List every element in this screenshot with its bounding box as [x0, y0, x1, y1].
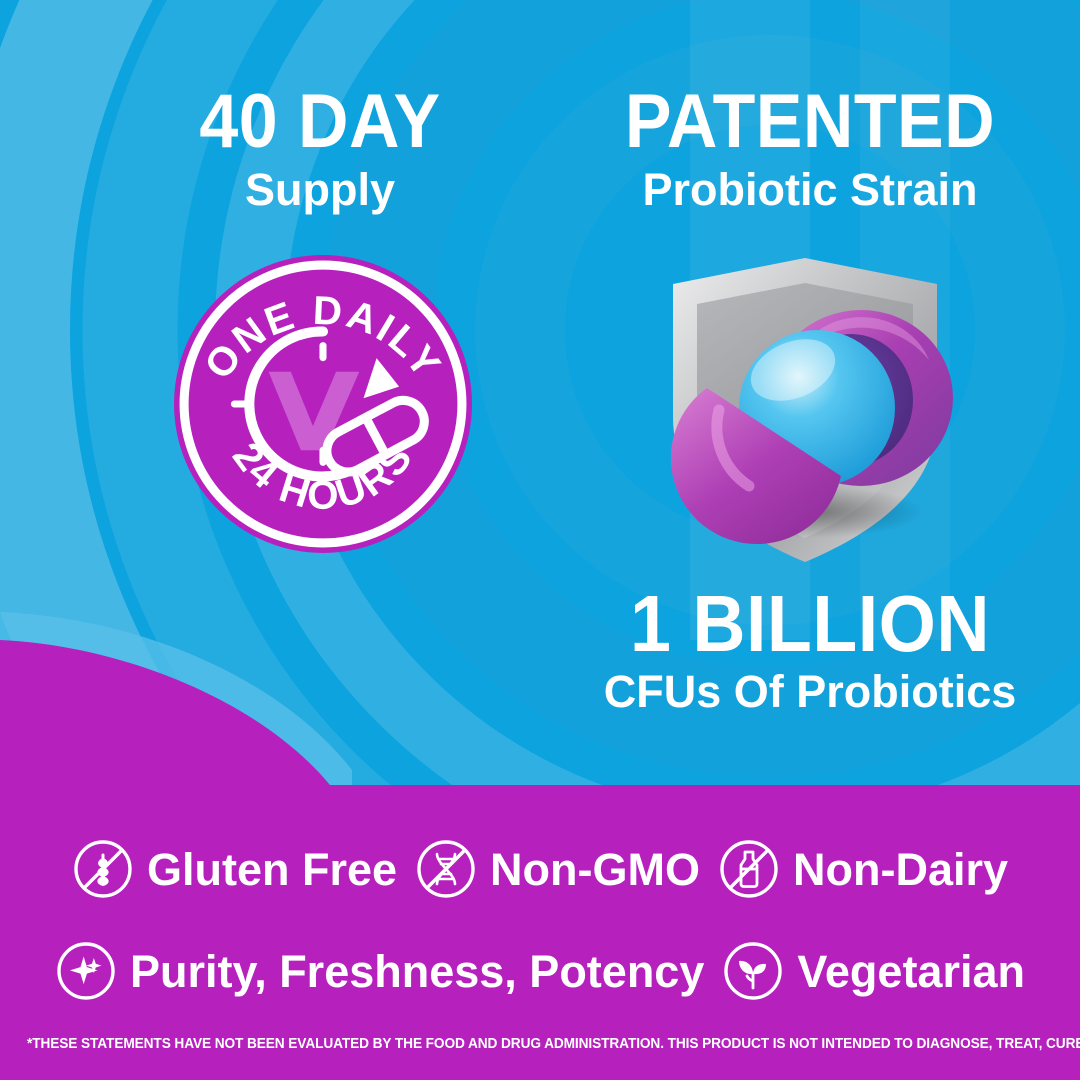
patented-subhead: Probiotic Strain	[560, 166, 1060, 213]
patented-headline: PATENTED	[580, 86, 1040, 158]
sparkle-purity-icon	[55, 940, 117, 1002]
supply-headline: 40 DAY	[81, 86, 559, 158]
claims-row-1: Gluten Free Non-GMO	[0, 838, 1080, 900]
claim-label: Non-GMO	[490, 847, 700, 892]
non-dairy-bottle-icon	[718, 838, 780, 900]
patented-headline-block: PATENTED Probiotic Strain	[560, 86, 1060, 213]
gluten-free-icon	[72, 838, 134, 900]
patented-strain-shield	[645, 250, 965, 570]
claim-label: Vegetarian	[797, 949, 1025, 994]
claims-row-2: Purity, Freshness, Potency Vegetarian	[0, 940, 1080, 1002]
claim-vegetarian: Vegetarian	[722, 940, 1025, 1002]
product-benefits-infographic: 40 DAY Supply PATENTED Probiotic Strain …	[0, 0, 1080, 1080]
cfu-headline: 1 BILLION	[580, 586, 1040, 662]
claim-label: Purity, Freshness, Potency	[130, 949, 704, 994]
claim-label: Gluten Free	[147, 847, 397, 892]
cfu-subhead: CFUs Of Probiotics	[560, 668, 1060, 715]
non-gmo-dna-icon	[415, 838, 477, 900]
claim-non-gmo: Non-GMO	[415, 838, 700, 900]
fda-disclaimer: *THESE STATEMENTS HAVE NOT BEEN EVALUATE…	[27, 1036, 1053, 1052]
supply-headline-block: 40 DAY Supply	[60, 86, 580, 213]
vegetarian-sprout-icon	[722, 940, 784, 1002]
claim-gluten-free: Gluten Free	[72, 838, 397, 900]
claim-non-dairy: Non-Dairy	[718, 838, 1008, 900]
claim-purity-freshness-potency: Purity, Freshness, Potency	[55, 940, 704, 1002]
cfu-headline-block: 1 BILLION CFUs Of Probiotics	[560, 586, 1060, 715]
claim-label: Non-Dairy	[793, 847, 1008, 892]
one-daily-24-hours-badge: ONE DAILY 24 HOURS	[172, 253, 474, 555]
supply-subhead: Supply	[60, 166, 580, 213]
